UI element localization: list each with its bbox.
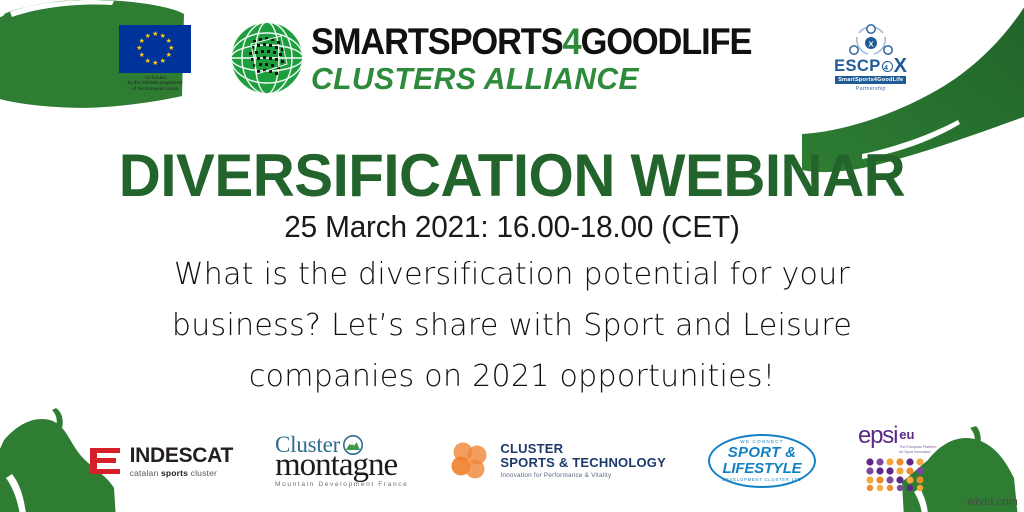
alliance-smartsports: SMARTSPORTS xyxy=(311,21,563,62)
cst-tagline: Innovation for Performance & Vitality xyxy=(500,473,666,480)
partner-logo-epsi: epsi eu The European Platform for Sport … xyxy=(858,426,936,497)
eu-caption-line-3: of the European Union xyxy=(108,86,202,92)
montagne-tagline: Mountain Development France xyxy=(275,482,408,489)
escp-program-bar: SmartSports4GoodLife xyxy=(835,76,906,84)
montagne-main-word: montagne xyxy=(275,449,397,482)
description-line-2: business? Let’s share with Sport and Lei… xyxy=(112,300,912,351)
epsi-dot-grid-icon xyxy=(865,457,929,496)
description-line-1: What is the diversification potential fo… xyxy=(112,249,912,300)
escp-wordmark: ESCPX xyxy=(834,58,907,75)
orange-circles-icon xyxy=(450,442,492,480)
escp-network-icon: X xyxy=(848,24,894,58)
indescat-mark-icon xyxy=(88,446,122,476)
smartsports4goodlife-logo: SMARTSPORTS4GOODLIFE CLUSTERS ALLIANCE xyxy=(229,20,785,96)
epsi-word: epsi xyxy=(858,426,897,446)
indescat-text: INDESCAT catalan sports cluster xyxy=(130,445,233,478)
event-datetime: 25 March 2021: 16.00-18.00 (CET) xyxy=(20,211,1003,243)
escp-x: X xyxy=(894,58,908,75)
webinar-poster: ★ ★ ★ ★ ★ ★ ★ ★ ★ ★ ★ ★ Co-funded by the… xyxy=(0,0,1024,512)
description-line-3: companies on 2021 opportunities! xyxy=(112,351,912,402)
partner-logo-sport-lifestyle: WE CONNECT SPORT & LIFESTYLE DEVELOPMENT… xyxy=(708,434,816,488)
sport-lifestyle-line-2: LIFESTYLE xyxy=(722,461,801,476)
epsi-tld: eu xyxy=(899,427,914,442)
partner-logo-strip: INDESCAT catalan sports cluster Cluster … xyxy=(0,426,1024,496)
cst-line-1: CLUSTER xyxy=(500,442,666,456)
logo-header-band: ★ ★ ★ ★ ★ ★ ★ ★ ★ ★ ★ ★ Co-funded by the… xyxy=(0,8,1024,108)
epsi-sub-line-1: The European Platform xyxy=(899,445,936,449)
watermark: wtvid.com xyxy=(967,496,1018,508)
epsi-tld-block: eu The European Platform for Sport Innov… xyxy=(899,426,936,455)
green-globe-icon xyxy=(229,20,305,96)
alliance-line-1: SMARTSPORTS4GOODLIFE xyxy=(311,23,751,60)
escp-four-dot-icon xyxy=(882,61,893,72)
svg-text:X: X xyxy=(868,40,873,49)
sport-lifestyle-bottom-text: DEVELOPMENT CLUSTER LTD xyxy=(722,478,801,482)
escp-partnership-label: Partnership xyxy=(856,86,886,92)
indescat-tag-post: cluster xyxy=(188,468,217,478)
indescat-tagline: catalan sports cluster xyxy=(130,469,233,478)
eu-cofunding-caption: Co-funded by the COSME programme of the … xyxy=(108,75,202,92)
cst-text: CLUSTER SPORTS & TECHNOLOGY Innovation f… xyxy=(500,442,666,480)
partner-logo-indescat: INDESCAT catalan sports cluster xyxy=(88,445,233,478)
partner-logo-cluster-montagne: Cluster montagne Mountain Development Fr… xyxy=(275,433,408,489)
epsi-wordmark-row: epsi eu The European Platform for Sport … xyxy=(858,426,936,455)
alliance-goodlife: GOODLIFE xyxy=(581,21,752,62)
alliance-four: 4 xyxy=(563,21,581,62)
indescat-tag-pre: catalan xyxy=(130,468,161,478)
european-union-flag-icon: ★ ★ ★ ★ ★ ★ ★ ★ ★ ★ ★ ★ xyxy=(119,25,191,73)
alliance-wordmark: SMARTSPORTS4GOODLIFE CLUSTERS ALLIANCE xyxy=(311,23,785,94)
epsi-sub-line-2: for Sport Innovation xyxy=(899,450,936,454)
indescat-name: INDESCAT xyxy=(130,445,233,466)
indescat-tag-bold: sports xyxy=(161,468,188,478)
escp-prefix: ESCP xyxy=(834,58,881,75)
cst-line-2: SPORTS & TECHNOLOGY xyxy=(500,456,666,470)
escp4x-logo: X ESCPX SmartSports4GoodLife Partnership xyxy=(825,24,917,92)
eu-cofunding-block: ★ ★ ★ ★ ★ ★ ★ ★ ★ ★ ★ ★ Co-funded by the… xyxy=(107,25,203,92)
alliance-line-2: CLUSTERS ALLIANCE xyxy=(311,63,770,94)
page-title: DIVERSIFICATION WEBINAR xyxy=(15,146,1008,206)
event-description: What is the diversification potential fo… xyxy=(112,249,912,402)
sport-lifestyle-line-1: SPORT & xyxy=(728,445,797,460)
partner-logo-cluster-sports-technology: CLUSTER SPORTS & TECHNOLOGY Innovation f… xyxy=(450,442,666,480)
